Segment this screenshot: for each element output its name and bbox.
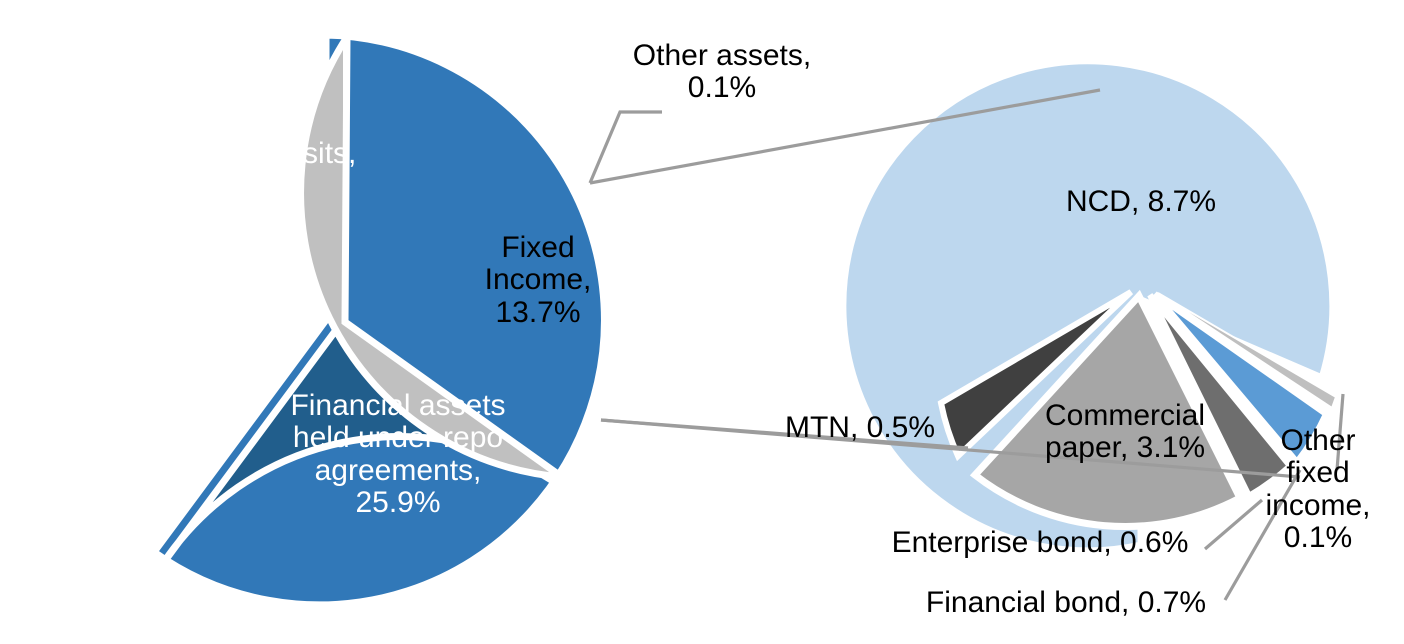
- label-fixed-income: Fixed Income, 13.7%: [474, 232, 602, 329]
- label-other-fixed-income: Other fixed income, 0.1%: [1258, 425, 1378, 555]
- label-commercial-paper: Commercial paper, 3.1%: [1020, 400, 1230, 465]
- label-financial-bond: Financial bond, 0.7%: [896, 587, 1236, 619]
- pie-of-pie-chart: Bank deposits, 60.3% Fixed Income, 13.7%…: [0, 0, 1404, 644]
- label-enterprise-bond: Enterprise bond, 0.6%: [866, 527, 1214, 559]
- label-repo-agreements: Financial assets held under repo agreeme…: [258, 390, 538, 520]
- label-ncd: NCD, 8.7%: [1029, 186, 1253, 218]
- label-other-assets: Other assets, 0.1%: [600, 40, 844, 105]
- label-bank-deposits: Bank deposits, 60.3%: [128, 138, 388, 203]
- label-mtn: MTN, 0.5%: [760, 412, 960, 444]
